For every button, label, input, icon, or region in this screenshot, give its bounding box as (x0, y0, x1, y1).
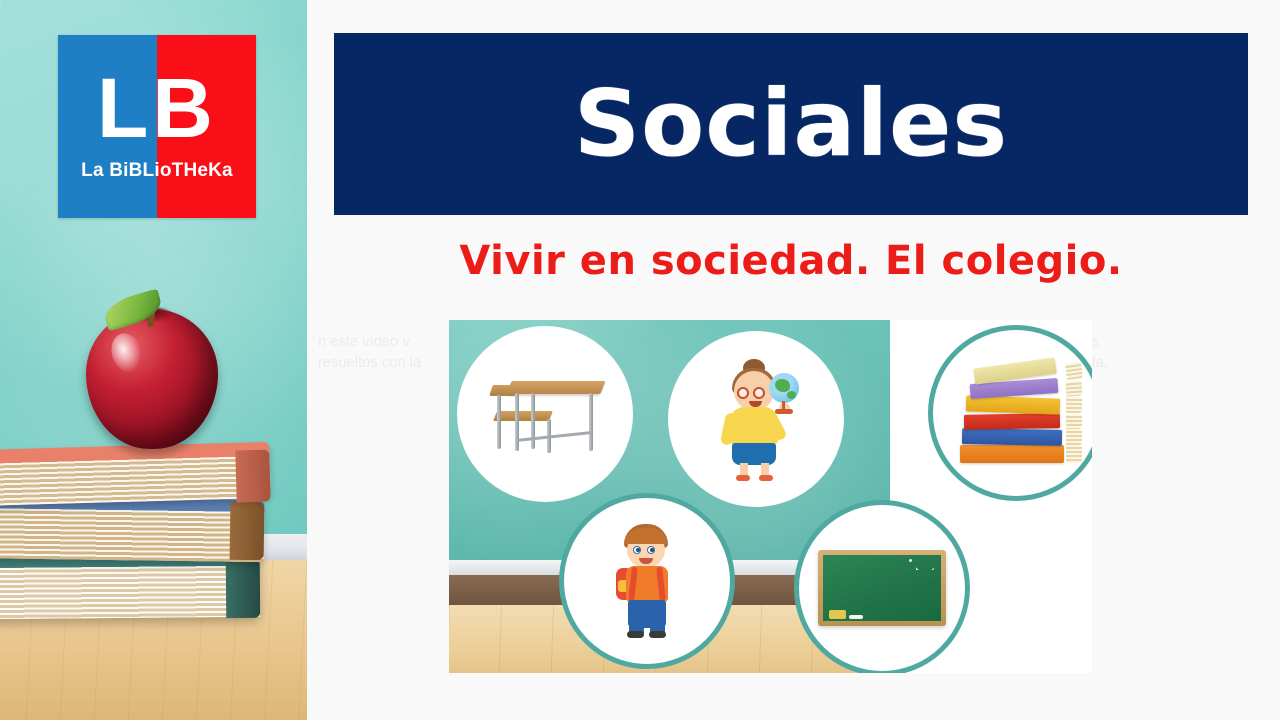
book-middle-spine (230, 502, 265, 560)
title-banner: Sociales (334, 33, 1248, 215)
page-title: Sociales (574, 78, 1008, 170)
book-top (0, 442, 271, 506)
bubble-teacher[interactable] (668, 331, 844, 507)
sidebar-photo-panel: LB La BiBLioTHeKa (0, 0, 307, 720)
page-subtitle: Vivir en sociedad. El colegio. (334, 233, 1248, 289)
school-desk-icon (485, 371, 605, 457)
labibliotheka-logo: LB La BiBLioTHeKa (58, 35, 256, 218)
book-top-spine (235, 450, 270, 503)
red-apple (86, 297, 218, 449)
bubble-school-desk[interactable] (457, 326, 633, 502)
book-middle (0, 496, 264, 562)
bubble-stack-of-books[interactable] (928, 325, 1092, 501)
teacher-with-globe-icon (717, 359, 795, 479)
lesson-illustration-card[interactable] (449, 320, 1092, 673)
bubble-student[interactable] (559, 493, 735, 669)
student-with-backpack-icon (614, 522, 680, 640)
slide-canvas: LB La BiBLioTHeKa Sociales Vivir en soci… (0, 0, 1280, 720)
stack-of-books-icon (960, 359, 1072, 467)
logo-initials: LB (58, 65, 256, 151)
bubble-chalkboard[interactable] (794, 500, 970, 673)
description-line-2-left: resueltos con la (318, 355, 421, 371)
chalkboard-icon (818, 550, 946, 626)
book-bottom (0, 555, 260, 620)
description-line-1-left: n este vídeo v (318, 334, 410, 350)
logo-wordmark: La BiBLioTHeKa (58, 160, 256, 182)
book-bottom-spine (226, 560, 261, 618)
